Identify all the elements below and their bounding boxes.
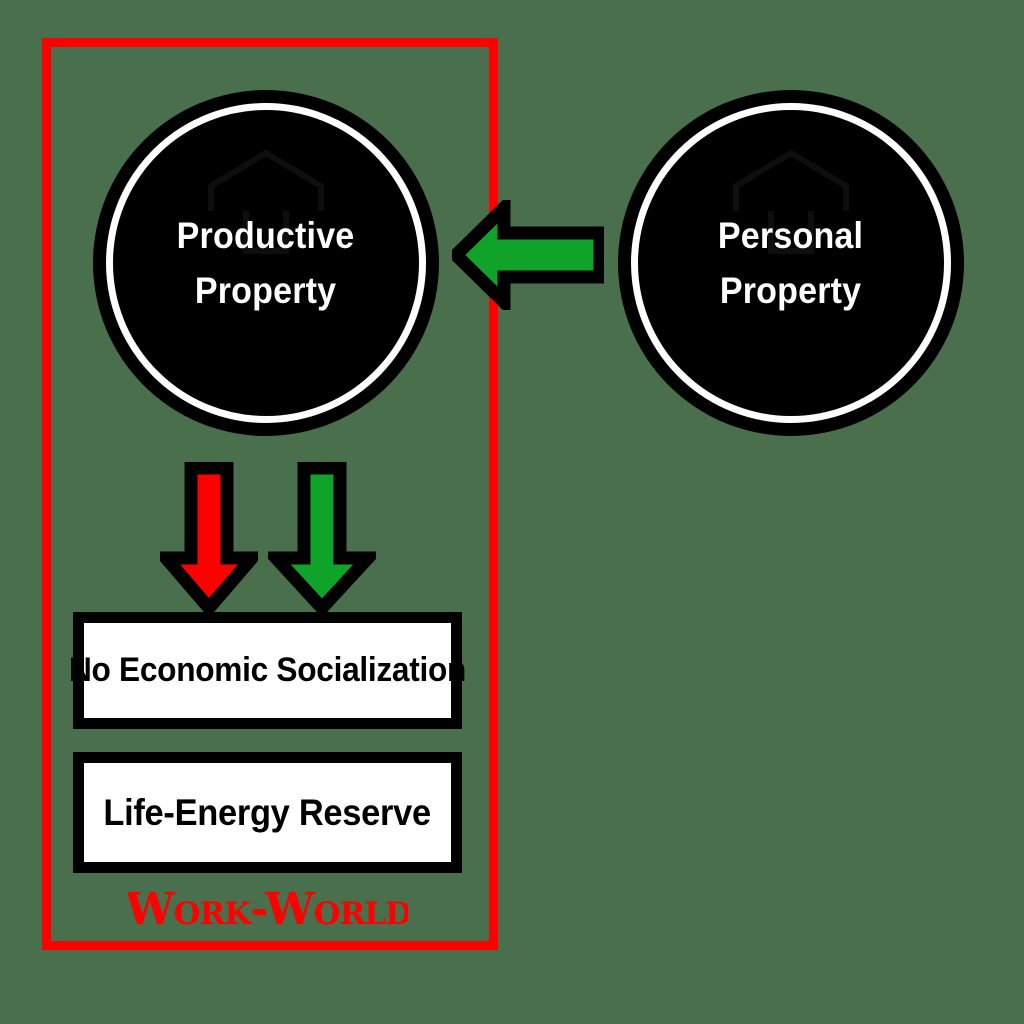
work-world-caption-text: Work-World [128, 884, 408, 936]
node-personal-property-label: Personal Property [676, 208, 905, 319]
node-label-line-2: Property [676, 263, 905, 319]
box-life-energy-reserve[interactable]: Life-Energy Reserve [73, 752, 462, 873]
node-label-line-1: Productive [151, 208, 380, 264]
work-world-caption: Work-World [73, 884, 462, 936]
box-no-economic-socialization-label: No Economic Socialization [69, 651, 466, 690]
node-personal-property[interactable]: Personal Property [618, 90, 964, 436]
box-life-energy-reserve-label: Life-Energy Reserve [104, 792, 431, 834]
node-label-line-2: Property [151, 263, 380, 319]
node-label-line-1: Personal [676, 208, 905, 264]
box-no-economic-socialization[interactable]: No Economic Socialization [73, 612, 462, 729]
node-productive-property-label: Productive Property [151, 208, 380, 319]
diagram-canvas: Productive Property Personal Property No… [0, 0, 1024, 1024]
svg-text:Work-World: Work-World [128, 884, 408, 935]
node-productive-property[interactable]: Productive Property [93, 90, 439, 436]
